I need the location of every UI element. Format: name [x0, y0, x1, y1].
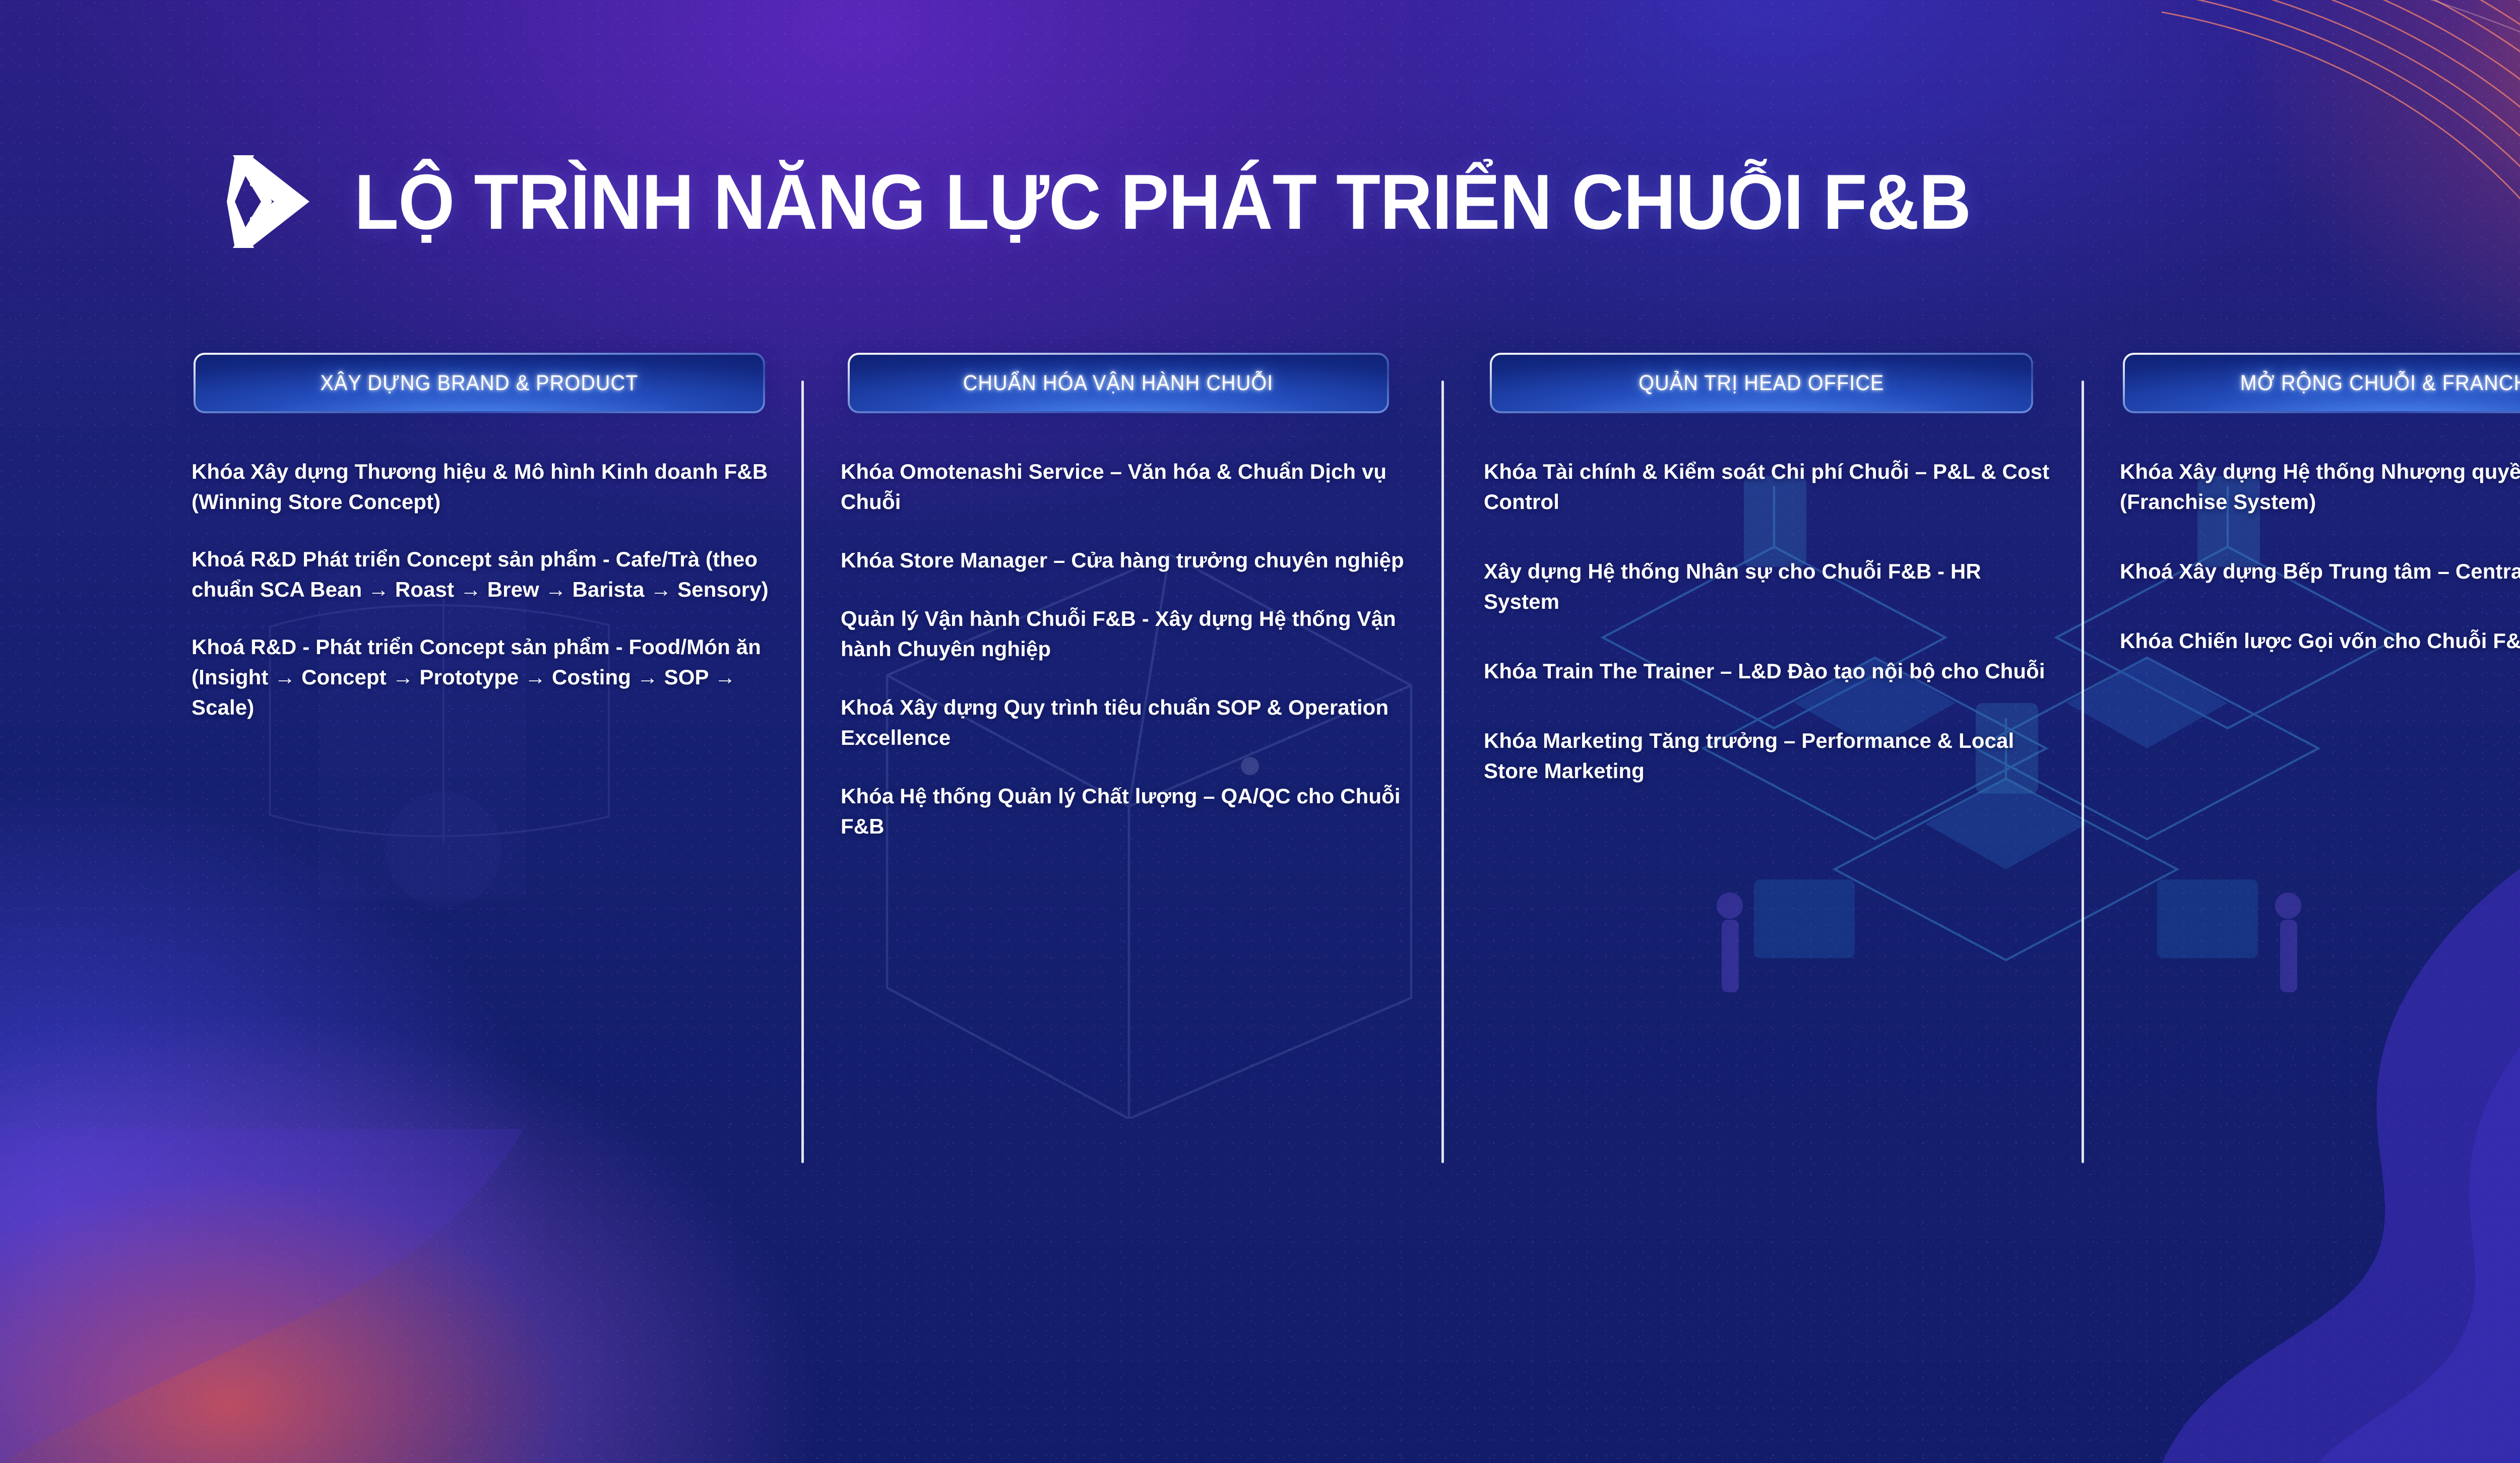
course-item: Khóa Marketing Tăng trưởng – Performance…	[1484, 726, 2060, 786]
column-header-pill-2[interactable]: CHUẨN HÓA VẬN HÀNH CHUỖI	[848, 353, 1389, 413]
roadmap-column-van-hanh-chuoi: CHUẨN HÓA VẬN HÀNH CHUỖI Khóa Omotenashi…	[801, 353, 1441, 1169]
roadmap-columns: XÂY DỰNG BRAND & PRODUCT Khóa Xây dựng T…	[161, 353, 2520, 1169]
course-item: Quản lý Vận hành Chuỗi F&B - Xây dựng Hệ…	[841, 604, 1422, 664]
course-item: Khóa Omotenashi Service – Văn hóa & Chuẩ…	[841, 457, 1422, 517]
course-item: Khóa Xây dựng Hệ thống Nhượng quyền Chuỗ…	[2120, 457, 2520, 517]
course-list-4: Khóa Xây dựng Hệ thống Nhượng quyền Chuỗ…	[2099, 457, 2520, 656]
roadmap-column-head-office: QUẢN TRỊ HEAD OFFICE Khóa Tài chính & Ki…	[1441, 353, 2082, 1169]
course-item: Khóa Chiến lược Gọi vốn cho Chuỗi F&B	[2120, 626, 2520, 656]
column-header-label-1: XÂY DỰNG BRAND & PRODUCT	[320, 371, 638, 396]
course-item: Khóa Train The Trainer – L&D Đào tạo nội…	[1484, 656, 2060, 686]
column-header-pill-1[interactable]: XÂY DỰNG BRAND & PRODUCT	[194, 353, 765, 413]
roadmap-column-brand-product: XÂY DỰNG BRAND & PRODUCT Khóa Xây dựng T…	[161, 353, 801, 1169]
course-item: Xây dựng Hệ thống Nhân sự cho Chuỗi F&B …	[1484, 556, 2060, 617]
course-list-1: Khóa Xây dựng Thương hiệu & Mô hình Kinh…	[178, 457, 784, 723]
column-header-pill-4[interactable]: MỞ RỘNG CHUỖI & FRANCHISE	[2123, 353, 2520, 413]
column-header-label-3: QUẢN TRỊ HEAD OFFICE	[1639, 371, 1884, 396]
course-item: Khoá R&D - Phát triển Concept sản phẩm -…	[192, 632, 780, 723]
double-chevron-arrow-icon	[218, 151, 321, 252]
column-header-pill-3[interactable]: QUẢN TRỊ HEAD OFFICE	[1490, 353, 2033, 413]
roadmap-column-franchise: MỞ RỘNG CHUỖI & FRANCHISE Khóa Xây dựng …	[2082, 353, 2520, 1169]
course-item: Khoá R&D Phát triển Concept sản phẩm - C…	[192, 544, 780, 605]
course-item: Khóa Xây dựng Thương hiệu & Mô hình Kinh…	[192, 457, 780, 517]
course-item: Khóa Tài chính & Kiểm soát Chi phí Chuỗi…	[1484, 457, 2060, 517]
course-list-2: Khóa Omotenashi Service – Văn hóa & Chuẩ…	[818, 457, 1424, 842]
course-item: Khóa Hệ thống Quản lý Chất lượng – QA/QC…	[841, 781, 1422, 842]
course-item: Khoá Xây dựng Quy trình tiêu chuẩn SOP &…	[841, 692, 1422, 753]
page-title: LỘ TRÌNH NĂNG LỰC PHÁT TRIỂN CHUỖI F&B	[354, 163, 1971, 241]
column-header-label-4: MỞ RỘNG CHUỖI & FRANCHISE	[2240, 371, 2520, 396]
column-header-label-2: CHUẨN HÓA VẬN HÀNH CHUỖI	[963, 371, 1274, 396]
course-item: Khóa Store Manager – Cửa hàng trưởng chu…	[841, 545, 1422, 576]
course-list-3: Khóa Tài chính & Kiểm soát Chi phí Chuỗi…	[1459, 457, 2064, 786]
page-title-row: LỘ TRÌNH NĂNG LỰC PHÁT TRIỂN CHUỖI F&B	[218, 151, 2093, 252]
course-item: Khoá Xây dựng Bếp Trung tâm – Central Ki…	[2120, 556, 2520, 587]
